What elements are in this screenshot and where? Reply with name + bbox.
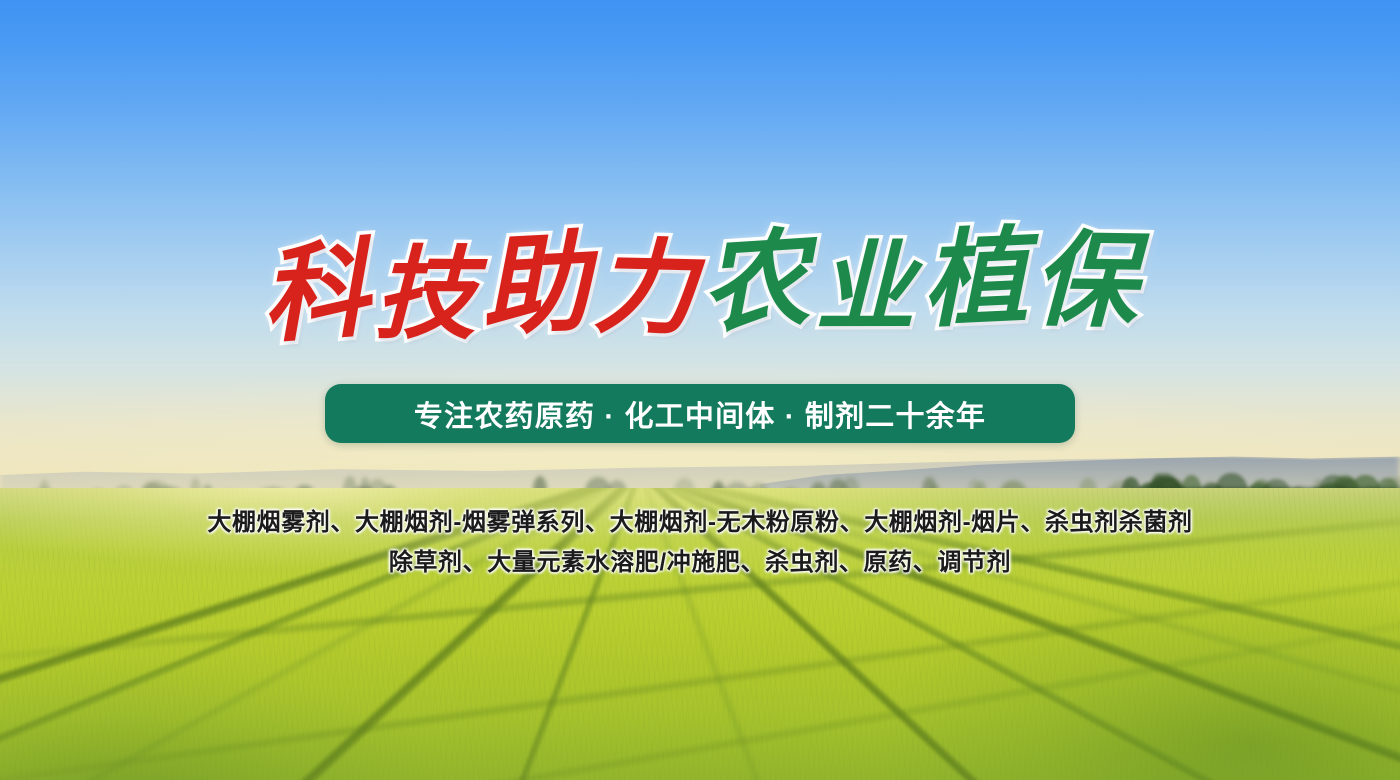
product-line-1: 大棚烟雾剂、大棚烟剂-烟雾弹系列、大棚烟剂-无木粉原粉、大棚烟剂-烟片、杀虫剂杀… [0,503,1400,543]
product-line-2: 除草剂、大量元素水溶肥/冲施肥、杀虫剂、原药、调节剂 [0,543,1400,583]
subtitle-text: 专注农药原药 · 化工中间体 · 制剂二十余年 [414,393,986,435]
product-list: 大棚烟雾剂、大棚烟剂-烟雾弹系列、大棚烟剂-无木粉原粉、大棚烟剂-烟片、杀虫剂杀… [0,503,1400,583]
subtitle-banner: 专注农药原药 · 化工中间体 · 制剂二十余年 [325,384,1075,443]
hero-banner: 科技助力农业植保 专注农药原药 · 化工中间体 · 制剂二十余年 大棚烟雾剂、大… [0,0,1400,780]
field-shadow-left [0,590,500,780]
